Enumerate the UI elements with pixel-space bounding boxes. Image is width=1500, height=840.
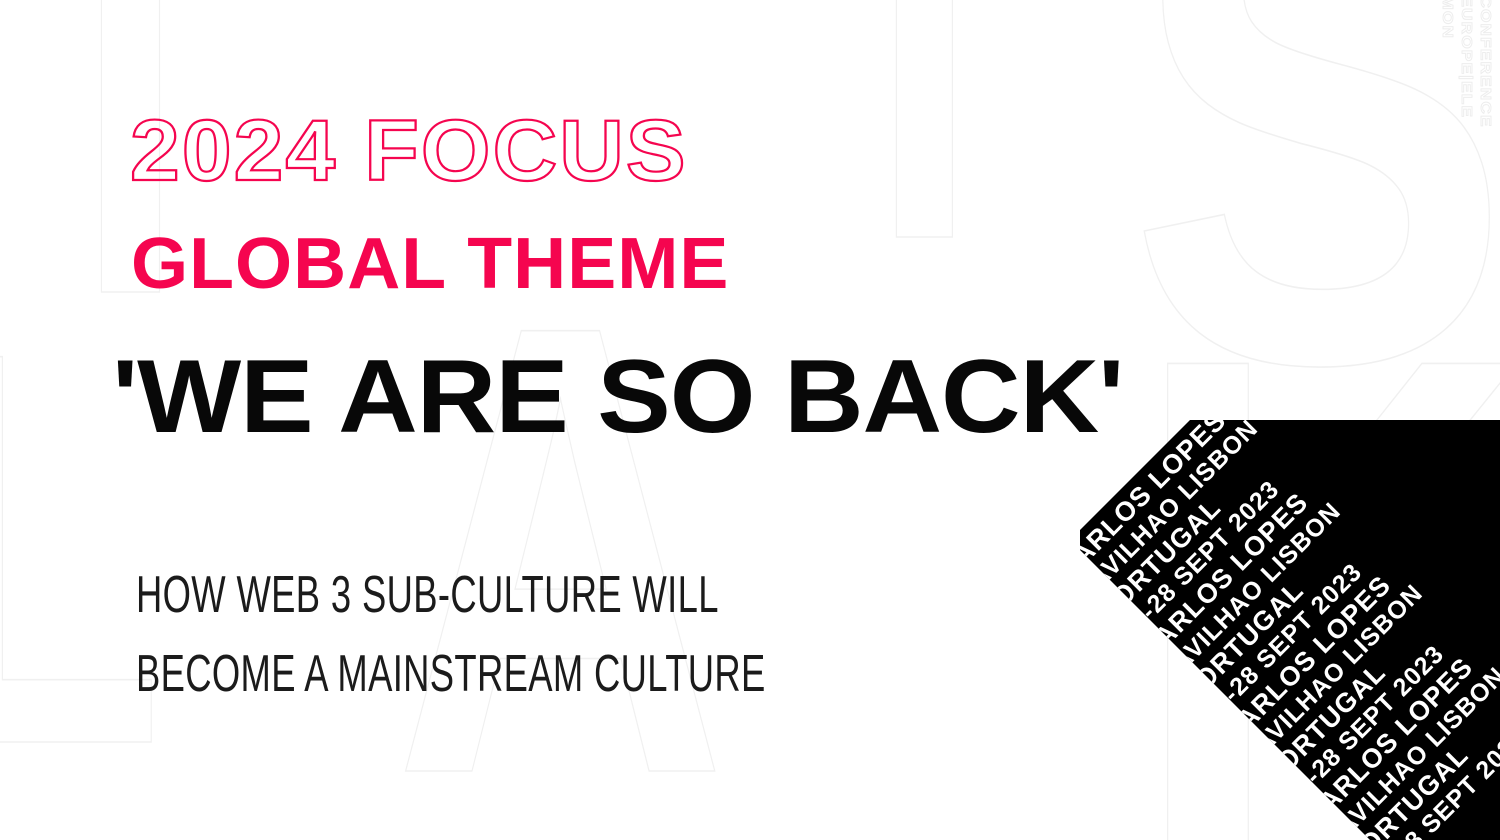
subtitle-line-1: HOW WEB 3 SUB-CULTURE WILL bbox=[136, 556, 766, 635]
page-title: 'WE ARE SO BACK' bbox=[112, 345, 1123, 449]
eyebrow-solid-text: GLOBAL THEME bbox=[131, 228, 729, 300]
subtitle-block: HOW WEB 3 SUB-CULTURE WILL BECOME A MAIN… bbox=[136, 556, 766, 714]
subtitle-line-2: BECOME A MAINSTREAM CULTURE bbox=[136, 635, 766, 714]
slide-content: 2024 FOCUS GLOBAL THEME 'WE ARE SO BACK'… bbox=[0, 0, 1500, 840]
presentation-slide: T T A L S K CONFERENCE EUROPE|ELE MON 20… bbox=[0, 0, 1500, 840]
eyebrow-outline-text: 2024 FOCUS bbox=[130, 108, 688, 194]
